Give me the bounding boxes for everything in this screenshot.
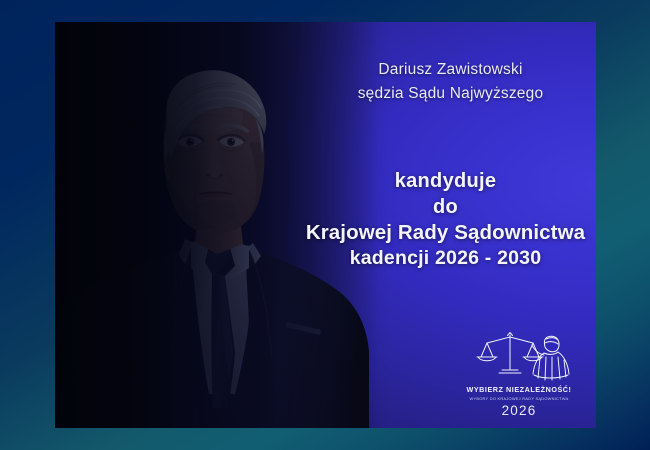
- headline-block: kandyduje do Krajowej Rady Sądownictwa k…: [295, 169, 596, 271]
- emblem-slogan: WYBIERZ NIEZALEŻNOŚĆ!: [460, 385, 578, 394]
- candidate-role: sędzia Sądu Najwyższego: [305, 82, 596, 106]
- scales-of-justice-with-themis-figure: [460, 328, 578, 384]
- candidate-name: Dariusz Zawistowski: [305, 58, 596, 82]
- headline-line-4: kadencji 2026 - 2030: [295, 246, 596, 271]
- campaign-emblem: WYBIERZ NIEZALEŻNOŚĆ! WYBORY DO KRAJOWEJ…: [460, 328, 578, 419]
- emblem-subtitle: WYBORY DO KRAJOWEJ RADY SĄDOWNICTWA: [460, 396, 578, 401]
- decorative-frame: Dariusz Zawistowski sędzia Sądu Najwyższ…: [0, 0, 650, 450]
- campaign-poster: Dariusz Zawistowski sędzia Sądu Najwyższ…: [55, 22, 596, 428]
- headline-line-1: kandyduje: [295, 169, 596, 195]
- candidate-name-block: Dariusz Zawistowski sędzia Sądu Najwyższ…: [305, 58, 596, 106]
- headline-line-2: do: [295, 195, 596, 221]
- headline-line-3: Krajowej Rady Sądownictwa: [295, 220, 596, 246]
- emblem-year: 2026: [460, 403, 578, 418]
